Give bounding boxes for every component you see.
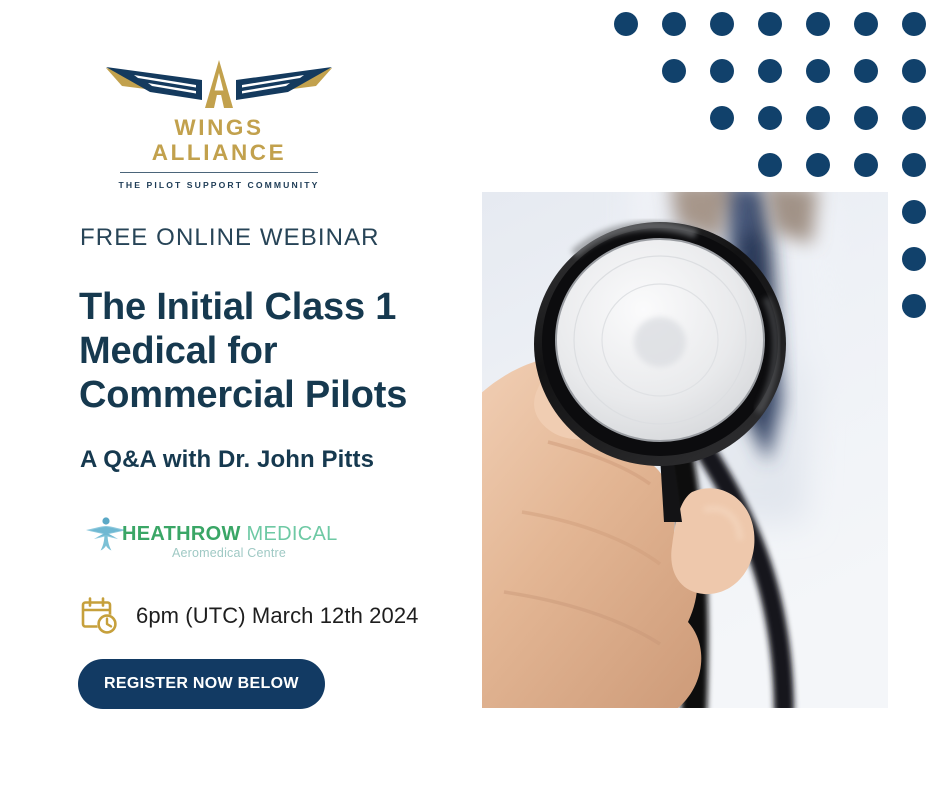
wings-alliance-logo: WINGS ALLIANCE THE PILOT SUPPORT COMMUNI… <box>104 56 334 190</box>
decorative-dot <box>902 294 926 318</box>
decorative-dot <box>710 12 734 36</box>
stethoscope-photo-image <box>482 192 888 708</box>
decorative-dot <box>710 106 734 130</box>
decorative-dot <box>902 153 926 177</box>
heathrow-medical-logo: HEATHROW MEDICAL Aeromedical Centre <box>82 513 322 571</box>
wings-alliance-tagline: THE PILOT SUPPORT COMMUNITY <box>104 180 334 190</box>
stethoscope-photo <box>482 192 888 708</box>
subtitle-speaker: A Q&A with Dr. John Pitts <box>80 446 374 474</box>
calendar-clock-icon <box>80 596 120 636</box>
decorative-dot <box>854 12 878 36</box>
heathrow-medical-subtitle: Aeromedical Centre <box>122 546 322 560</box>
wings-alliance-name: WINGS ALLIANCE <box>104 116 334 166</box>
decorative-dot <box>806 12 830 36</box>
decorative-dot <box>902 12 926 36</box>
poster-canvas: WINGS ALLIANCE THE PILOT SUPPORT COMMUNI… <box>0 0 940 788</box>
headline-line-1: The Initial Class 1 <box>79 285 479 329</box>
decorative-dot <box>854 153 878 177</box>
decorative-dot <box>902 200 926 224</box>
wings-alliance-winged-a-icon <box>104 56 334 112</box>
eyebrow-text: FREE ONLINE WEBINAR <box>80 224 380 252</box>
decorative-dot <box>662 12 686 36</box>
decorative-dot <box>758 12 782 36</box>
event-datetime-row: 6pm (UTC) March 12th 2024 <box>80 596 419 636</box>
decorative-dot <box>902 247 926 271</box>
decorative-dot <box>758 59 782 83</box>
decorative-dot <box>758 153 782 177</box>
decorative-dot <box>902 106 926 130</box>
event-datetime-text: 6pm (UTC) March 12th 2024 <box>136 603 419 629</box>
decorative-dot <box>854 59 878 83</box>
decorative-dot <box>806 59 830 83</box>
decorative-dot <box>806 153 830 177</box>
headline-line-2: Medical for <box>79 329 479 373</box>
logo-divider <box>120 172 318 173</box>
register-now-button[interactable]: REGISTER NOW BELOW <box>78 659 325 709</box>
heathrow-medical-wordmark: HEATHROW MEDICAL Aeromedical Centre <box>122 523 322 560</box>
decorative-dot <box>758 106 782 130</box>
decorative-dot <box>854 106 878 130</box>
heathrow-medical-name-secondary: MEDICAL <box>247 523 338 545</box>
decorative-dot <box>662 59 686 83</box>
decorative-dot <box>710 59 734 83</box>
page-title: The Initial Class 1 Medical for Commerci… <box>79 285 479 417</box>
heathrow-medical-name-primary: HEATHROW <box>122 523 241 545</box>
decorative-dot <box>902 59 926 83</box>
decorative-dot <box>614 12 638 36</box>
decorative-dot <box>806 106 830 130</box>
headline-line-3: Commercial Pilots <box>79 373 479 417</box>
